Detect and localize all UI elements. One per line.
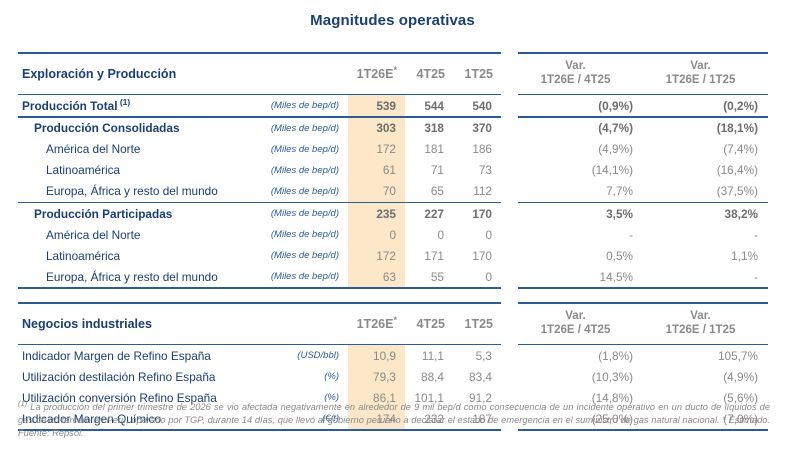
cell-prev-quarter: 55 [405,266,453,287]
column-header-estimate: 1T26E* [348,304,405,344]
cell-var-quarter: (4,9%) [518,139,643,160]
cell-var-year: - [643,266,768,287]
cell-estimate: 61 [348,160,405,181]
footnote: (1) La producción del primer trimestre d… [18,401,770,441]
cell-gap [501,160,518,181]
cell-var-quarter: (10,3%) [518,366,643,387]
cell-gap [501,245,518,266]
cell-prev-quarter: 544 [405,95,453,116]
column-header-prev-quarter: 4T25 [405,54,453,94]
cell-gap [501,366,518,387]
spacer-cell [18,289,768,302]
column-gap [501,304,518,344]
cell-gap [501,118,518,139]
cell-estimate: 0 [348,224,405,245]
section-title: Negocios industriales [18,304,253,344]
row-label: Europa, África y resto del mundo [18,266,253,287]
cell-gap [501,95,518,116]
table-row: Latinoamérica(Miles de bep/d)617173(14,1… [18,160,768,181]
cell-var-quarter: (0,9%) [518,95,643,116]
cell-prev-quarter: 318 [405,118,453,139]
row-unit: (Miles de bep/d) [253,245,348,266]
row-unit: (USD/bbl) [253,345,348,366]
estimate-asterisk: * [393,314,397,324]
cell-var-year: 105,7% [643,345,768,366]
cell-prev-quarter: 171 [405,245,453,266]
cell-prev-year: 0 [453,266,501,287]
cell-var-quarter: (1,8%) [518,345,643,366]
table-row: Producción Consolidadas(Miles de bep/d)3… [18,118,768,139]
cell-estimate: 172 [348,139,405,160]
cell-estimate: 539 [348,95,405,116]
column-header-var-year: Var.1T26E / 1T25 [643,304,768,344]
cell-estimate: 303 [348,118,405,139]
table-row: Europa, África y resto del mundo(Miles d… [18,181,768,202]
cell-gap [501,139,518,160]
cell-estimate: 172 [348,245,405,266]
section-title: Exploración y Producción [18,54,253,94]
cell-prev-year: 0 [453,224,501,245]
cell-var-year: (18,1%) [643,118,768,139]
cell-gap [501,345,518,366]
table-row: Utilización destilación Refino España(%)… [18,366,768,387]
cell-gap [501,181,518,202]
row-unit: (Miles de bep/d) [253,181,348,202]
cell-var-quarter: 3,5% [518,203,643,224]
section-spacer [18,289,768,302]
row-footnote-marker: (1) [117,97,130,107]
cell-estimate: 70 [348,181,405,202]
operating-metrics-table: Exploración y Producción1T26E*4T251T25Va… [18,52,768,431]
row-label: Latinoamérica [18,245,253,266]
column-header-var-year: Var.1T26E / 1T25 [643,54,768,94]
cell-var-year: (7,4%) [643,139,768,160]
cell-prev-year: 186 [453,139,501,160]
cell-gap [501,203,518,224]
row-unit: (Miles de bep/d) [253,139,348,160]
row-unit: (Miles de bep/d) [253,224,348,245]
cell-var-quarter: 0,5% [518,245,643,266]
cell-var-quarter: 7,7% [518,181,643,202]
row-unit: (Miles de bep/d) [253,266,348,287]
table-row: Latinoamérica(Miles de bep/d)1721711700,… [18,245,768,266]
row-unit: (Miles de bep/d) [253,118,348,139]
cell-var-year: (37,5%) [643,181,768,202]
cell-var-year: 1,1% [643,245,768,266]
column-header-estimate: 1T26E* [348,54,405,94]
table-header-row: Exploración y Producción1T26E*4T251T25Va… [18,54,768,94]
cell-var-quarter: 14,5% [518,266,643,287]
column-header-prev-quarter: 4T25 [405,304,453,344]
table-row: Europa, África y resto del mundo(Miles d… [18,266,768,287]
cell-prev-quarter: 88,4 [405,366,453,387]
cell-var-year: (0,2%) [643,95,768,116]
column-header-prev-year: 1T25 [453,54,501,94]
table-row: Producción Total (1)(Miles de bep/d)5395… [18,95,768,116]
cell-var-quarter: (14,1%) [518,160,643,181]
table-header-row: Negocios industriales1T26E*4T251T25Var.1… [18,304,768,344]
column-header-var-quarter: Var.1T26E / 4T25 [518,304,643,344]
page-title: Magnitudes operativas [0,12,785,29]
row-label: América del Norte [18,224,253,245]
cell-var-quarter: - [518,224,643,245]
cell-var-year: 38,2% [643,203,768,224]
table-row: América del Norte(Miles de bep/d)000-- [18,224,768,245]
cell-prev-year: 5,3 [453,345,501,366]
cell-prev-year: 540 [453,95,501,116]
cell-var-year: (4,9%) [643,366,768,387]
cell-var-year: (16,4%) [643,160,768,181]
row-label: Producción Participadas [18,203,253,224]
row-unit: (Miles de bep/d) [253,95,348,116]
cell-prev-year: 170 [453,245,501,266]
cell-prev-quarter: 65 [405,181,453,202]
unit-header [253,54,348,94]
table-row: Producción Participadas(Miles de bep/d)2… [18,203,768,224]
cell-prev-year: 170 [453,203,501,224]
cell-prev-year: 112 [453,181,501,202]
estimate-asterisk: * [393,64,397,74]
table-row: América del Norte(Miles de bep/d)1721811… [18,139,768,160]
cell-var-quarter: (4,7%) [518,118,643,139]
row-label: Utilización destilación Refino España [18,366,253,387]
cell-estimate: 63 [348,266,405,287]
cell-estimate: 235 [348,203,405,224]
column-header-prev-year: 1T25 [453,304,501,344]
metrics-sheet: Exploración y Producción1T26E*4T251T25Va… [18,52,768,431]
cell-var-year: - [643,224,768,245]
cell-prev-year: 370 [453,118,501,139]
cell-estimate: 79,3 [348,366,405,387]
footnote-text: La producción del primer trimestre de 20… [18,402,770,425]
cell-prev-quarter: 181 [405,139,453,160]
row-label: Europa, África y resto del mundo [18,181,253,202]
cell-prev-quarter: 227 [405,203,453,224]
cell-prev-year: 83,4 [453,366,501,387]
row-unit: (Miles de bep/d) [253,203,348,224]
cell-gap [501,224,518,245]
row-label: Producción Total (1) [18,95,253,116]
cell-prev-year: 73 [453,160,501,181]
cell-estimate: 10,9 [348,345,405,366]
row-unit: (Miles de bep/d) [253,160,348,181]
cell-prev-quarter: 71 [405,160,453,181]
row-label: América del Norte [18,139,253,160]
row-label: Latinoamérica [18,160,253,181]
row-label: Indicador Margen de Refino España [18,345,253,366]
cell-gap [501,266,518,287]
row-unit: (%) [253,366,348,387]
table-row: Indicador Margen de Refino España(USD/bb… [18,345,768,366]
row-label: Producción Consolidadas [18,118,253,139]
slide-page: Magnitudes operativas Exploración y Prod… [0,0,785,472]
cell-prev-quarter: 0 [405,224,453,245]
cell-prev-quarter: 11,1 [405,345,453,366]
unit-header [253,304,348,344]
footnote-marker: (1) [18,399,27,408]
column-gap [501,54,518,94]
column-header-var-quarter: Var.1T26E / 4T25 [518,54,643,94]
